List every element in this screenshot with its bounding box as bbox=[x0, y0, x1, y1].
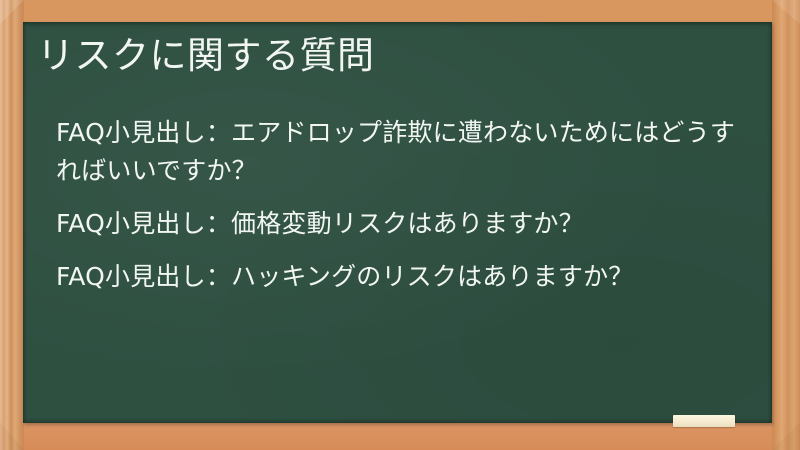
frame-corner-top-right bbox=[772, 0, 800, 24]
frame-corner-bottom-right bbox=[772, 422, 800, 450]
frame-top-edge bbox=[0, 0, 800, 24]
frame-corner-top-left bbox=[0, 0, 24, 24]
frame-right-edge bbox=[772, 0, 800, 450]
chalk-stick-icon bbox=[673, 415, 735, 427]
chalkboard-surface: リスクに関する質問 FAQ小見出し：エアドロップ詐欺に遭わないためにはどうすれば… bbox=[23, 22, 772, 423]
frame-left-edge bbox=[0, 0, 24, 450]
chalkboard-slide: リスクに関する質問 FAQ小見出し：エアドロップ詐欺に遭わないためにはどうすれば… bbox=[0, 0, 800, 450]
frame-corner-bottom-left bbox=[0, 422, 24, 450]
list-item: FAQ小見出し：エアドロップ詐欺に遭わないためにはどうすればいいですか？ bbox=[56, 114, 746, 190]
list-item: FAQ小見出し：価格変動リスクはありますか？ bbox=[56, 205, 746, 243]
page-title: リスクに関する質問 bbox=[37, 32, 375, 80]
faq-list: FAQ小見出し：エアドロップ詐欺に遭わないためにはどうすればいいですか？ FAQ… bbox=[56, 114, 746, 311]
list-item: FAQ小見出し：ハッキングのリスクはありますか？ bbox=[56, 258, 746, 296]
